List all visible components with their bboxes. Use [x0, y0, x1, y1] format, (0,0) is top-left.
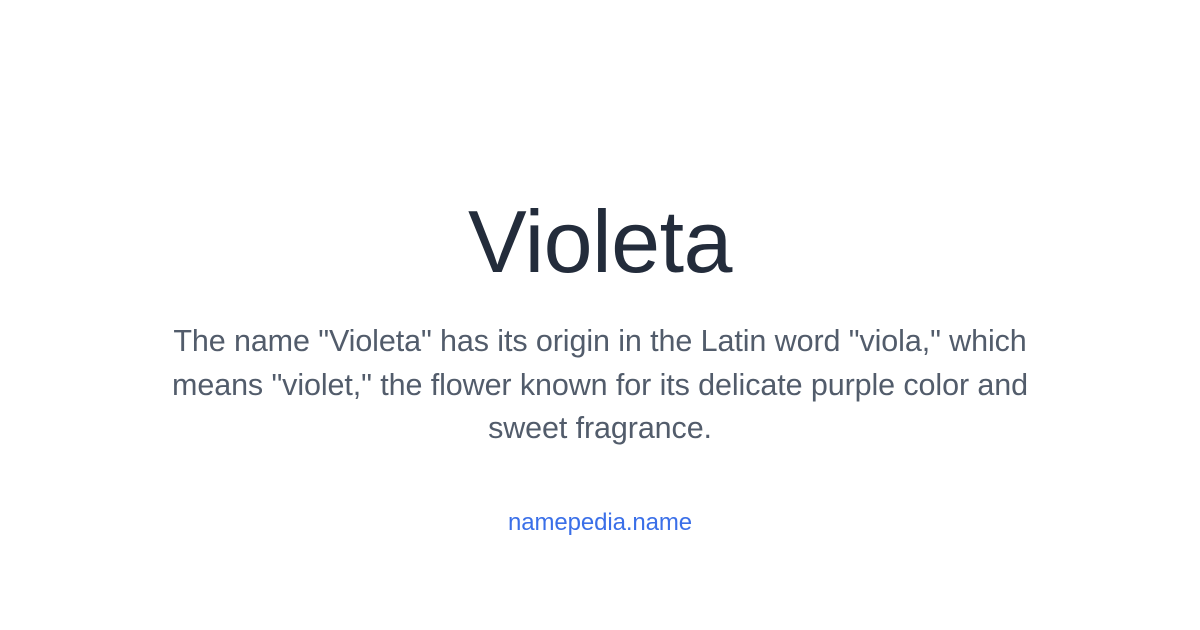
site-link[interactable]: namepedia.name	[508, 509, 692, 536]
site-link-container: namepedia.name	[0, 509, 1200, 537]
open-graph-card: Violeta The name "Violeta" has its origi…	[0, 0, 1200, 630]
card-content: Violeta The name "Violeta" has its origi…	[0, 0, 1200, 537]
name-description: The name "Violeta" has its origin in the…	[160, 320, 1040, 451]
page-title: Violeta	[0, 198, 1200, 286]
